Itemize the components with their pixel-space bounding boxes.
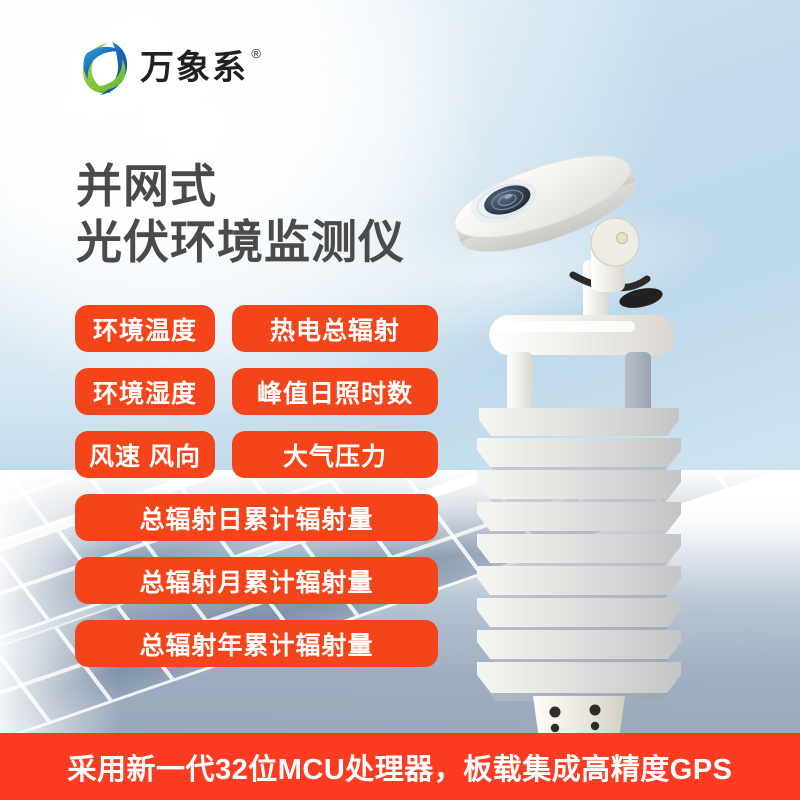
headline-line-2: 光伏环境监测仪 <box>76 214 405 270</box>
brand-name: 万象系 ® <box>140 51 248 85</box>
feature-tag-ambient-humidity[interactable]: 环境湿度 <box>75 368 215 415</box>
product-marketing-image: 万象系 ® 并网式 光伏环境监测仪 环境温度 热电总辐射 环境湿度 峰值日照时数… <box>0 0 800 800</box>
globe-swirl-logo-icon <box>78 40 130 96</box>
pyranometer-assembly <box>455 140 664 340</box>
product-image <box>455 140 755 740</box>
brand-logo: 万象系 ® <box>78 40 248 96</box>
feature-tag-list: 环境温度 热电总辐射 环境湿度 峰值日照时数 风速 风向 大气压力 总辐射日累计… <box>75 305 438 667</box>
bottom-banner-text: 采用新一代32位MCU处理器，板载集成高精度GPS <box>67 746 732 788</box>
cap-pillar <box>507 352 533 414</box>
feature-tag-wind-speed-direction[interactable]: 风速 风向 <box>75 431 215 478</box>
bottom-banner: 采用新一代32位MCU处理器，板载集成高精度GPS <box>0 733 800 800</box>
cap-pillar <box>625 352 651 414</box>
brand-name-text: 万象系 <box>140 49 248 87</box>
feature-tag-atmospheric-pressure[interactable]: 大气压力 <box>232 431 438 478</box>
page-title: 并网式 光伏环境监测仪 <box>76 158 405 270</box>
feature-tag-ambient-temperature[interactable]: 环境温度 <box>75 305 215 352</box>
feature-tag-peak-sunshine-hours[interactable]: 峰值日照时数 <box>232 368 438 415</box>
top-cap <box>489 315 675 355</box>
feature-tag-monthly-cumulative-radiation[interactable]: 总辐射月累计辐射量 <box>75 557 438 604</box>
registered-mark: ® <box>251 47 263 60</box>
headline-line-1: 并网式 <box>76 158 405 214</box>
feature-tag-thermopile-total-radiation[interactable]: 热电总辐射 <box>232 305 438 352</box>
feature-tag-daily-cumulative-radiation[interactable]: 总辐射日累计辐射量 <box>75 494 438 541</box>
feature-tag-yearly-cumulative-radiation[interactable]: 总辐射年累计辐射量 <box>75 620 438 667</box>
louver-stack <box>477 408 681 701</box>
